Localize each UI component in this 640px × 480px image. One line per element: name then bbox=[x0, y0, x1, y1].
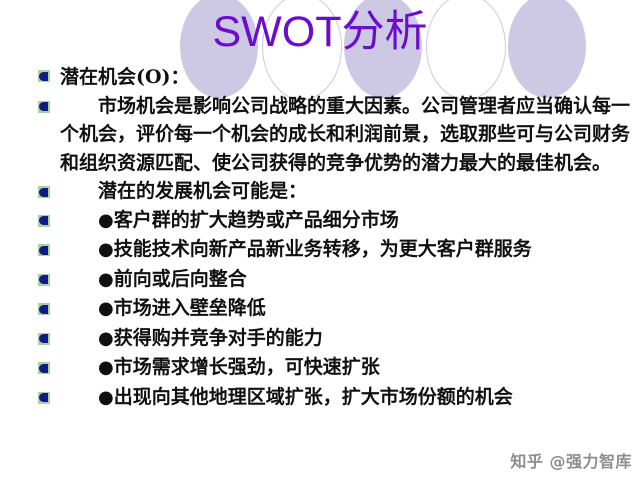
text-run: 获得购并竞争对手的能力 bbox=[114, 327, 323, 349]
square-wedge-bullet-icon bbox=[38, 244, 50, 256]
text-run: 市场需求增长强劲，可快速扩张 bbox=[114, 356, 380, 378]
text-run: 前向或后向整合 bbox=[114, 268, 247, 290]
text-run: 技能技术向新产品新业务转移，为更大客户群服务 bbox=[114, 238, 532, 260]
filled-circle-marker-icon: ● bbox=[98, 239, 114, 260]
square-wedge-bullet-icon bbox=[38, 333, 50, 345]
text-run: 客户群的扩大趋势或产品细分市场 bbox=[114, 209, 399, 231]
bullet-list-item: ●市场进入壁垒降低 bbox=[0, 294, 640, 324]
bullet-list-item: ●市场需求增长强劲，可快速扩张 bbox=[0, 353, 640, 383]
slide-title: SWOT分析 bbox=[0, 6, 640, 58]
text-run: 市场机会是影响公司战略的重大因素。公司管理者应当确认每一个机会，评价每一个机会的… bbox=[60, 95, 630, 174]
bullet-list-item: ●客户群的扩大趋势或产品细分市场 bbox=[0, 206, 640, 236]
square-wedge-bullet-icon bbox=[38, 274, 50, 286]
text-run: 市场进入壁垒降低 bbox=[114, 297, 266, 319]
filled-circle-marker-icon: ● bbox=[98, 357, 114, 378]
square-wedge-bullet-icon bbox=[38, 362, 50, 374]
text-run: 潜在机会(O)： bbox=[60, 66, 190, 88]
text-run: 出现向其他地理区域扩张，扩大市场份额的机会 bbox=[114, 386, 513, 408]
square-wedge-bullet-icon bbox=[38, 70, 50, 82]
filled-circle-marker-icon: ● bbox=[98, 328, 114, 349]
text-run: 潜在的发展机会可能是： bbox=[98, 180, 307, 202]
bullet-list-item: ●前向或后向整合 bbox=[0, 265, 640, 295]
body-paragraph: 市场机会是影响公司战略的重大因素。公司管理者应当确认每一个机会，评价每一个机会的… bbox=[0, 92, 640, 178]
watermark-label: 知乎 @强力智库 bbox=[510, 448, 632, 472]
bullet-list-item: ●出现向其他地理区域扩张，扩大市场份额的机会 bbox=[0, 383, 640, 413]
square-wedge-bullet-icon bbox=[38, 303, 50, 315]
square-wedge-bullet-icon bbox=[38, 215, 50, 227]
body-heading: 潜在机会(O)： bbox=[0, 63, 640, 92]
slide-body: 潜在机会(O)：市场机会是影响公司战略的重大因素。公司管理者应当确认每一个机会，… bbox=[0, 63, 640, 412]
slide-canvas: SWOT分析 潜在机会(O)：市场机会是影响公司战略的重大因素。公司管理者应当确… bbox=[0, 0, 640, 480]
filled-circle-marker-icon: ● bbox=[98, 298, 114, 319]
bullet-list-item: ●获得购并竞争对手的能力 bbox=[0, 324, 640, 354]
square-wedge-bullet-icon bbox=[38, 186, 50, 198]
filled-circle-marker-icon: ● bbox=[98, 269, 114, 290]
square-wedge-bullet-icon bbox=[38, 101, 50, 113]
square-wedge-bullet-icon bbox=[38, 392, 50, 404]
bullet-list-item: ●技能技术向新产品新业务转移，为更大客户群服务 bbox=[0, 235, 640, 265]
bullet-list-item: 潜在的发展机会可能是： bbox=[0, 177, 640, 206]
filled-circle-marker-icon: ● bbox=[98, 387, 114, 408]
filled-circle-marker-icon: ● bbox=[98, 210, 114, 231]
